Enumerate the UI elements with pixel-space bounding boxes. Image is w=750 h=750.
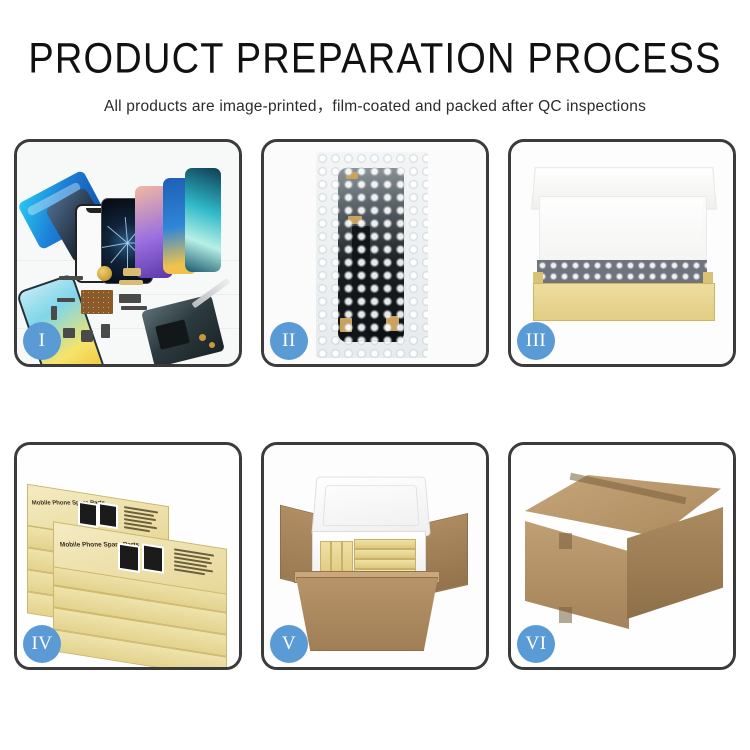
process-step-panel-6[interactable]: VI bbox=[508, 442, 736, 670]
phone-teal-gradient bbox=[185, 168, 221, 272]
chip-grid bbox=[81, 290, 113, 314]
carton-front-wall bbox=[296, 577, 438, 651]
speaker-part bbox=[97, 266, 112, 281]
small-part bbox=[59, 276, 83, 280]
flex-cable bbox=[119, 280, 143, 285]
small-part bbox=[57, 298, 75, 302]
bubble-texture bbox=[316, 152, 428, 358]
process-step-panel-1[interactable]: I bbox=[14, 139, 242, 367]
step-badge-4: IV bbox=[23, 625, 61, 663]
process-step-panel-5[interactable]: V bbox=[261, 442, 489, 670]
flex-cable bbox=[123, 268, 141, 276]
process-step-grid: I II bbox=[14, 139, 736, 745]
carton-tape-seam bbox=[559, 607, 572, 623]
carton-tape-seam bbox=[559, 533, 572, 549]
process-row-top: I II bbox=[14, 139, 736, 367]
small-part bbox=[63, 328, 75, 338]
page-header: PRODUCT PREPARATION PROCESS All products… bbox=[0, 0, 750, 116]
process-step-panel-3[interactable]: III bbox=[508, 139, 736, 367]
foam-box-lid bbox=[311, 477, 431, 536]
page-subtitle: All products are image-printed，film-coat… bbox=[0, 94, 750, 116]
retail-box-stack: Mobile Phone Spare Parts Mobile Phone Sp… bbox=[23, 473, 235, 653]
small-part bbox=[101, 324, 110, 338]
process-step-panel-2[interactable]: II bbox=[261, 139, 489, 367]
step-badge-1: I bbox=[23, 322, 61, 360]
step-badge-5: V bbox=[270, 625, 308, 663]
process-step-panel-4[interactable]: Mobile Phone Spare Parts Mobile Phone Sp… bbox=[14, 442, 242, 670]
page-title: PRODUCT PREPARATION PROCESS bbox=[0, 38, 750, 81]
small-part bbox=[81, 330, 93, 342]
bubble-wrap-bag bbox=[316, 152, 428, 358]
screw-part bbox=[209, 342, 215, 348]
small-part bbox=[121, 306, 147, 310]
connector-part bbox=[119, 294, 141, 303]
small-part bbox=[51, 306, 57, 320]
foam-sheet bbox=[541, 200, 703, 262]
step-badge-3: III bbox=[517, 322, 555, 360]
step-badge-6: VI bbox=[517, 625, 555, 663]
process-row-bottom: Mobile Phone Spare Parts Mobile Phone Sp… bbox=[14, 442, 736, 670]
box-front-wall bbox=[533, 283, 715, 321]
screw-part bbox=[199, 334, 206, 341]
step-badge-2: II bbox=[270, 322, 308, 360]
